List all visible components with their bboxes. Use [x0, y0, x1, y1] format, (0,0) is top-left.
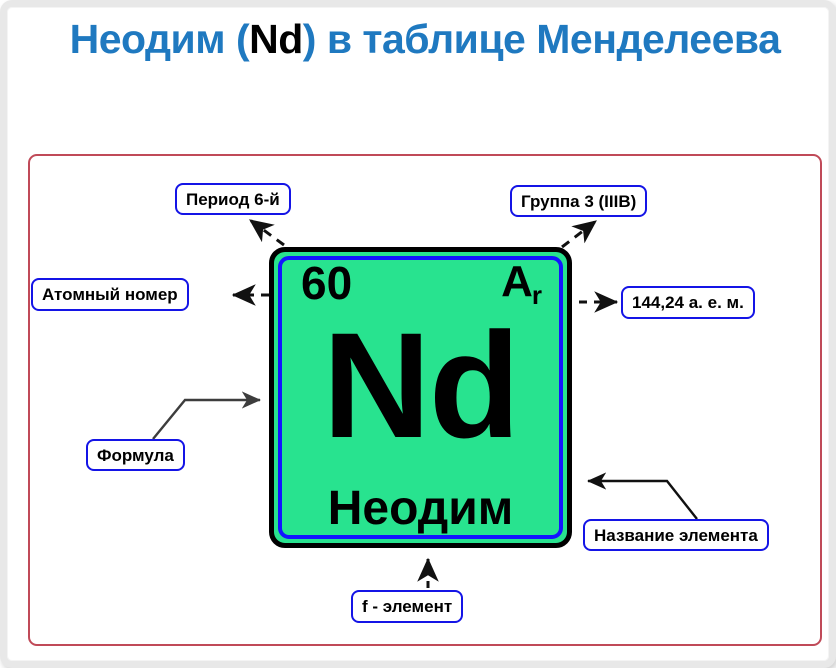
- page-title: Неодим (Nd) в таблице Менделеева: [7, 15, 836, 63]
- element-atomic-number: 60: [301, 260, 352, 306]
- element-symbol: Nd: [274, 304, 567, 466]
- callout-group[interactable]: Группа 3 (IIIB): [510, 185, 647, 217]
- element-relative-atomic-mass-symbol: Ar: [501, 260, 543, 304]
- element-tile[interactable]: 60 Ar Nd Неодим: [269, 247, 572, 548]
- callout-formula[interactable]: Формула: [86, 439, 185, 471]
- ar-base: A: [501, 257, 533, 306]
- callout-atomic-number[interactable]: Атомный номер: [31, 278, 189, 311]
- callout-period[interactable]: Период 6-й: [175, 183, 291, 215]
- title-text-before: Неодим (: [70, 16, 250, 62]
- callout-atomic-mass[interactable]: 144,24 а. е. м.: [621, 286, 755, 319]
- title-element-symbol: Nd: [249, 16, 303, 62]
- callout-f-element[interactable]: f - элемент: [351, 590, 463, 623]
- slide-canvas: Неодим (Nd) в таблице Менделеева: [0, 0, 836, 668]
- title-text-after: ) в таблице Менделеева: [303, 16, 781, 62]
- element-name: Неодим: [274, 485, 567, 533]
- callout-element-name[interactable]: Название элемента: [583, 519, 769, 551]
